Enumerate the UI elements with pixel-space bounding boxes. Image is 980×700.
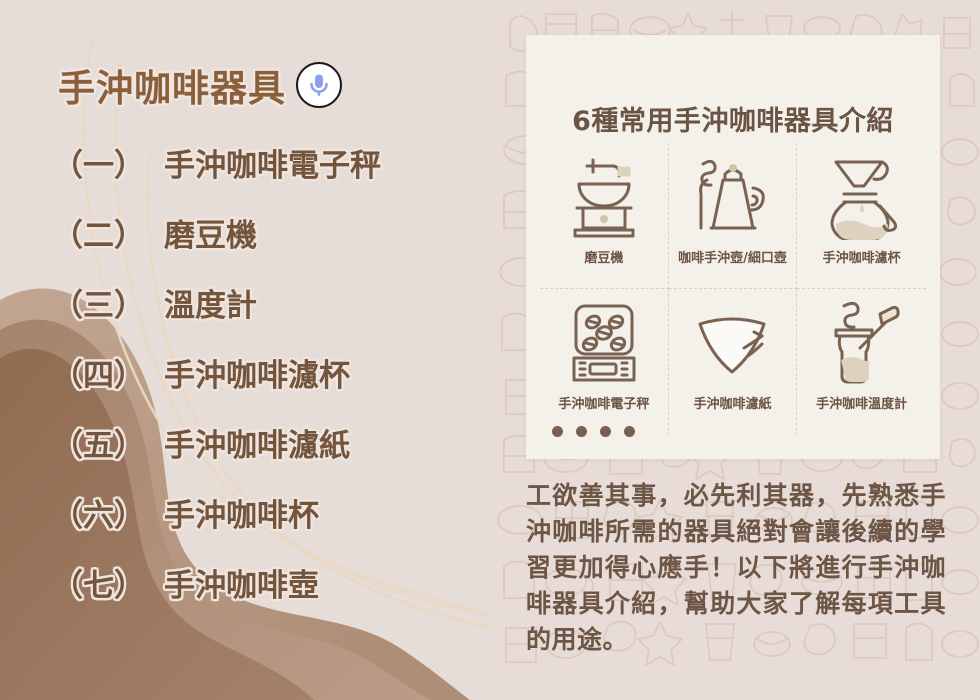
info-card: 6種常用手沖咖啡器具介紹 <box>526 35 940 459</box>
list-item[interactable]: （三） 溫度計 <box>52 280 482 350</box>
list-item-number: （二） <box>52 210 164 255</box>
coffee-thermometer-icon <box>822 295 902 391</box>
right-panel: 6種常用手沖咖啡器具介紹 <box>492 0 980 700</box>
list-item-label: 手沖咖啡濾杯 <box>164 350 482 395</box>
coffee-scale-icon <box>566 295 642 391</box>
grid-cell-label: 手沖咖啡濾紙 <box>693 393 771 412</box>
list-item[interactable]: （六） 手沖咖啡杯 <box>52 490 482 560</box>
microphone-icon[interactable] <box>296 62 342 108</box>
list-item-label: 手沖咖啡壺 <box>164 560 482 605</box>
left-panel: 手沖咖啡器具 （一） 手沖咖啡電子秤 （二） 磨豆機 <box>0 0 492 700</box>
pour-over-dripper-icon <box>822 149 902 245</box>
grid-cell[interactable]: 手沖咖啡濾紙 <box>669 289 798 435</box>
list-item-number: （七） <box>52 560 164 605</box>
intro-paragraph: 工欲善其事，必先利其器，先熟悉手沖咖啡所需的器具絕對會讓後續的學習更加得心應手！… <box>526 478 946 658</box>
list-item-number: （四） <box>52 350 164 395</box>
carousel-dot[interactable] <box>552 426 563 437</box>
list-item-number: （一） <box>52 140 164 185</box>
card-title: 6種常用手沖咖啡器具介紹 <box>526 99 940 138</box>
grid-cell[interactable]: 咖啡手沖壺/細口壺 <box>669 143 798 289</box>
list-item-number: （五） <box>52 420 164 465</box>
slide-canvas: 手沖咖啡器具 （一） 手沖咖啡電子秤 （二） 磨豆機 <box>0 0 980 700</box>
coffee-grinder-icon <box>567 149 641 245</box>
list-item[interactable]: （五） 手沖咖啡濾紙 <box>52 420 482 490</box>
list-item[interactable]: （二） 磨豆機 <box>52 210 482 280</box>
list-item-label: 手沖咖啡濾紙 <box>164 420 482 465</box>
list-item[interactable]: （一） 手沖咖啡電子秤 <box>52 140 482 210</box>
grid-cell-label: 磨豆機 <box>584 247 623 266</box>
grid-cell[interactable]: 磨豆機 <box>540 143 669 289</box>
page-title: 手沖咖啡器具 <box>58 58 286 112</box>
page-title-group: 手沖咖啡器具 <box>58 58 342 112</box>
list-item-number: （三） <box>52 280 164 325</box>
gooseneck-kettle-icon <box>689 149 775 245</box>
carousel-dot[interactable] <box>624 426 635 437</box>
grid-cell[interactable]: 手沖咖啡溫度計 <box>797 289 926 435</box>
list-item-label: 磨豆機 <box>164 210 482 255</box>
list-item-number: （六） <box>52 490 164 535</box>
left-content: 手沖咖啡器具 （一） 手沖咖啡電子秤 （二） 磨豆機 <box>0 0 492 700</box>
list-item-label: 溫度計 <box>164 280 482 325</box>
carousel-dot[interactable] <box>576 426 587 437</box>
grid-cell[interactable]: 手沖咖啡濾杯 <box>797 143 926 289</box>
list-item-label: 手沖咖啡杯 <box>164 490 482 535</box>
list-item[interactable]: （七） 手沖咖啡壺 <box>52 560 482 630</box>
filter-paper-icon <box>692 295 772 391</box>
grid-cell[interactable]: 手沖咖啡電子秤 <box>540 289 669 435</box>
equipment-icon-grid: 磨豆機 <box>540 143 926 435</box>
list-item-label: 手沖咖啡電子秤 <box>164 140 482 185</box>
grid-cell-label: 咖啡手沖壺/細口壺 <box>678 247 787 266</box>
grid-cell-label: 手沖咖啡溫度計 <box>816 393 907 412</box>
carousel-dot[interactable] <box>600 426 611 437</box>
grid-cell-label: 手沖咖啡電子秤 <box>558 393 649 412</box>
carousel-dots[interactable] <box>552 426 635 437</box>
grid-cell-label: 手沖咖啡濾杯 <box>823 247 901 266</box>
contents-list: （一） 手沖咖啡電子秤 （二） 磨豆機 （三） 溫度計 （四） 手沖咖啡濾杯 （… <box>52 140 482 630</box>
list-item[interactable]: （四） 手沖咖啡濾杯 <box>52 350 482 420</box>
